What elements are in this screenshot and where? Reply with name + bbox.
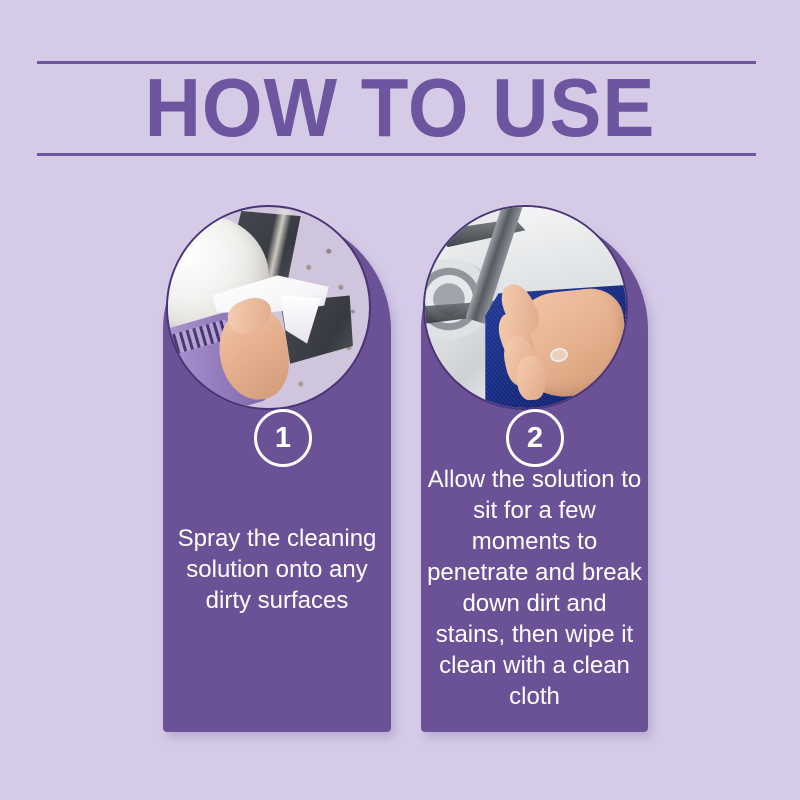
steps-container: 1 Spray the cleaning solution onto any d…	[0, 0, 800, 800]
step-caption-2: Allow the solution to sit for a few mome…	[421, 464, 648, 712]
step-caption-1: Spray the cleaning solution onto any dir…	[163, 523, 391, 616]
step-2-photo	[423, 205, 628, 410]
step-number-badge-1: 1	[254, 409, 312, 467]
spray-bottle-on-dirty-counter-photo	[168, 207, 369, 408]
step-card-2: 2 Allow the solution to sit for a few mo…	[421, 216, 648, 732]
hand-wiping-stove-with-blue-cloth-photo	[425, 207, 626, 408]
step-1-photo	[166, 205, 371, 410]
step-number-badge-2: 2	[506, 409, 564, 467]
step-card-1: 1 Spray the cleaning solution onto any d…	[163, 216, 391, 732]
